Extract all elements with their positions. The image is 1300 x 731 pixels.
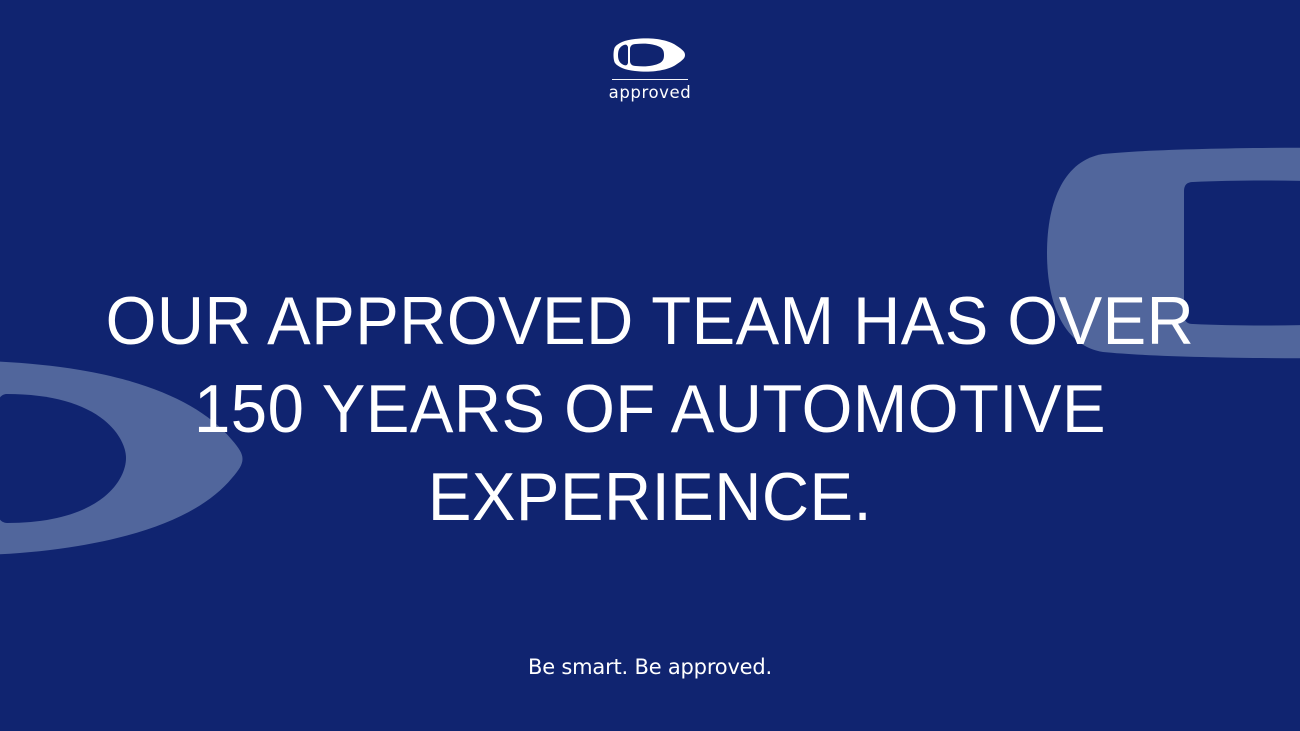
promo-slide: approved OUR APPROVED TEAM HAS OVER 150 … (0, 0, 1300, 731)
page-title: OUR APPROVED TEAM HAS OVER 150 YEARS OF … (0, 277, 1300, 541)
headline-line-2: 150 YEARS OF AUTOMOTIVE (26, 365, 1274, 453)
logo-divider (612, 79, 688, 80)
car-top-view-icon (613, 38, 687, 72)
headline-line-3: EXPERIENCE. (26, 453, 1274, 541)
logo-wordmark: approved (609, 85, 692, 102)
headline-line-1: OUR APPROVED TEAM HAS OVER (26, 277, 1274, 365)
tagline: Be smart. Be approved. (0, 657, 1300, 678)
brand-logo: approved (0, 38, 1300, 102)
